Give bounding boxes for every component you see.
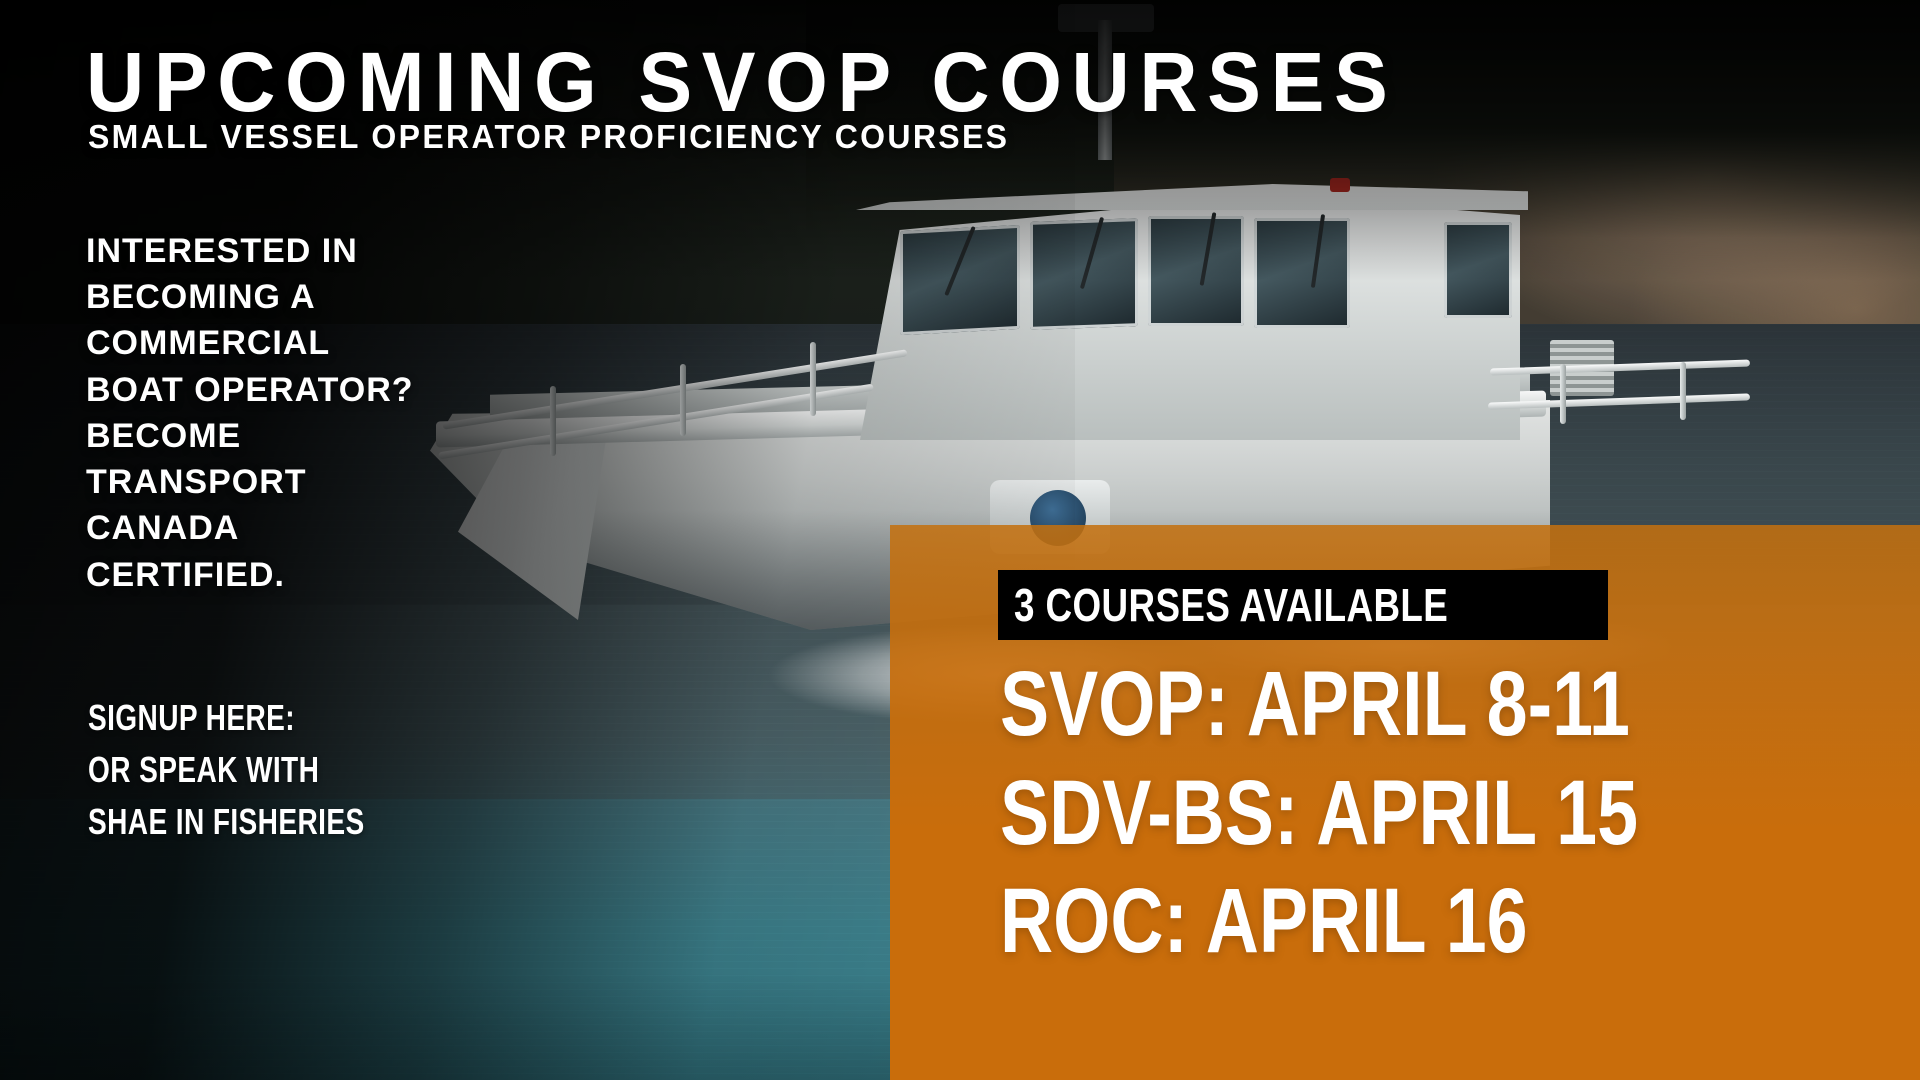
- signup-line: OR SPEAK WITH: [88, 744, 365, 796]
- signup-instructions: SIGNUP HERE: OR SPEAK WITH SHAE IN FISHE…: [88, 692, 365, 847]
- pitch-line: CERTIFIED.: [86, 552, 506, 598]
- page-title: UPCOMING SVOP COURSES: [86, 42, 1397, 123]
- courses-available-banner: 3 COURSES AVAILABLE: [998, 570, 1608, 640]
- signup-line: SHAE IN FISHERIES: [88, 796, 365, 848]
- pitch-line: BECOME: [86, 413, 506, 459]
- pitch-line: BECOMING A: [86, 274, 506, 320]
- pitch-line: INTERESTED IN: [86, 228, 506, 274]
- poster-canvas: UPCOMING SVOP COURSES SMALL VESSEL OPERA…: [0, 0, 1920, 1080]
- pitch-copy: INTERESTED IN BECOMING A COMMERCIAL BOAT…: [86, 228, 506, 598]
- page-subtitle: SMALL VESSEL OPERATOR PROFICIENCY COURSE…: [88, 120, 1009, 153]
- courses-available-label: 3 COURSES AVAILABLE: [998, 578, 1448, 632]
- pitch-line: COMMERCIAL: [86, 320, 506, 366]
- course-list-item: ROC: APRIL 16: [1000, 867, 1638, 976]
- pitch-line: BOAT OPERATOR?: [86, 367, 506, 413]
- signup-line: SIGNUP HERE:: [88, 692, 365, 744]
- rail-stanchion: [1560, 364, 1566, 424]
- course-list-item: SDV-BS: APRIL 15: [1000, 759, 1638, 868]
- course-list-item: SVOP: APRIL 8-11: [1000, 650, 1638, 759]
- rail-stanchion: [1680, 362, 1686, 420]
- pitch-line: TRANSPORT: [86, 459, 506, 505]
- course-schedule-list: SVOP: APRIL 8-11 SDV-BS: APRIL 15 ROC: A…: [1000, 650, 1798, 976]
- pitch-line: CANADA: [86, 505, 506, 551]
